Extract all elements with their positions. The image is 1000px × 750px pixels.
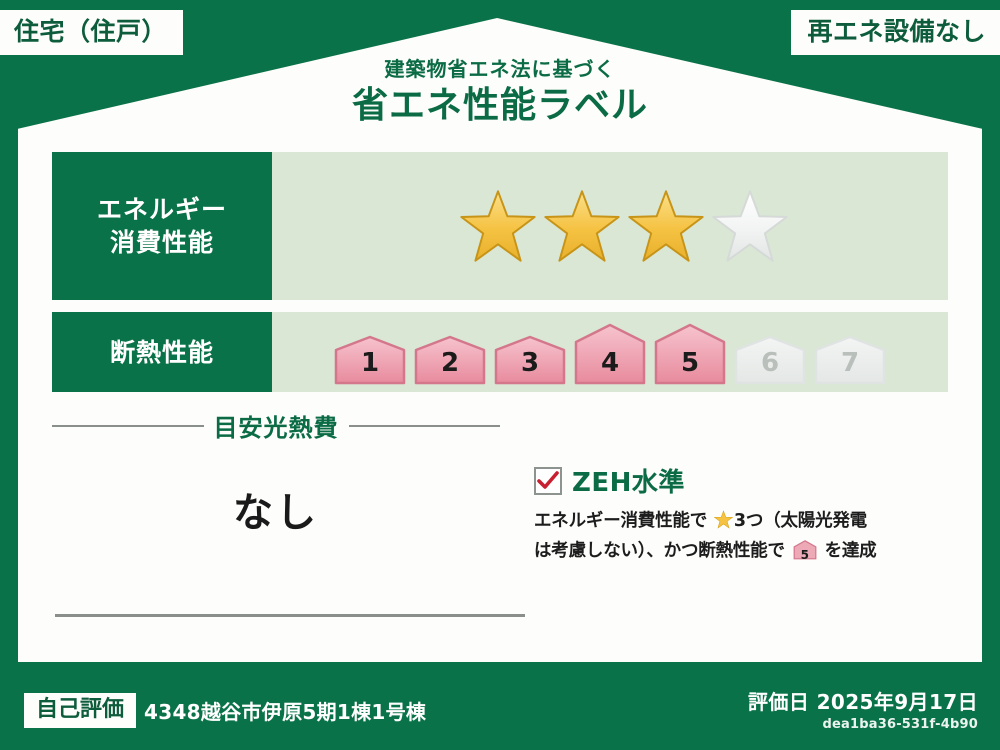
inline-house-grade-icon: 5 xyxy=(787,545,823,565)
self-evaluation-badge: 自己評価 xyxy=(24,693,136,728)
zeh-title: ZEH水準 xyxy=(572,462,685,499)
star-rating xyxy=(459,188,789,264)
insulation-grade-6: 6 xyxy=(732,335,808,385)
house-filled-icon xyxy=(654,323,726,385)
energy-performance-row: エネルギー 消費性能 xyxy=(52,152,948,300)
house-empty-icon xyxy=(814,335,886,385)
building-name: 4348越谷市伊原5期1棟1号棟 xyxy=(144,696,426,725)
zeh-desc-part-1: エネルギー消費性能で xyxy=(534,511,707,531)
insulation-grade-7: 7 xyxy=(812,335,888,385)
footer-right: 評価日 2025年9月17日 dea1ba36-531f-4b90 xyxy=(748,686,978,732)
inline-star-icon xyxy=(708,514,733,534)
utility-cost-title: 目安光熱費 xyxy=(214,408,339,443)
divider-left xyxy=(52,425,204,427)
utility-cost-bottom-divider xyxy=(55,614,525,617)
house-empty-icon xyxy=(734,335,806,385)
insulation-label-text: 断熱性能 xyxy=(110,336,214,369)
star-empty-icon xyxy=(711,188,789,264)
zeh-desc-part-2: 3つ（太陽光発電 xyxy=(734,511,867,531)
insulation-grade-scale: 1234567 xyxy=(332,312,888,392)
zeh-description: エネルギー消費性能で 3つ（太陽光発電 は考慮しない）、かつ断熱性能で 5を達成 xyxy=(534,508,954,569)
energy-performance-label: 住宅（住戸） 再エネ設備なし 建築物省エネ法に基づく 省エネ性能ラベル エネルギ… xyxy=(0,0,1000,750)
insulation-grade-1: 1 xyxy=(332,335,408,385)
badge-building-type: 住宅（住戸） xyxy=(0,10,183,55)
badge-renewable-equipment: 再エネ設備なし xyxy=(791,10,1000,55)
star-filled-icon xyxy=(459,188,537,264)
utility-cost-header: 目安光熱費 xyxy=(52,408,500,443)
inline-house-grade-number: 5 xyxy=(787,546,823,565)
house-filled-icon xyxy=(494,335,566,385)
energy-label-line-2: 消費性能 xyxy=(110,226,214,259)
energy-label-line-1: エネルギー xyxy=(97,193,227,226)
footer-left: 自己評価 4348越谷市伊原5期1棟1号棟 xyxy=(24,693,426,728)
insulation-performance-label: 断熱性能 xyxy=(52,312,272,392)
zeh-standard-block: ZEH水準 エネルギー消費性能で 3つ（太陽光発電 は考慮しない）、かつ断熱性能… xyxy=(534,462,954,569)
evaluation-date: 評価日 2025年9月17日 xyxy=(748,686,978,715)
insulation-grade-5: 5 xyxy=(652,323,728,385)
insulation-performance-value: 1234567 xyxy=(272,312,948,392)
divider-right xyxy=(349,425,501,427)
energy-performance-label: エネルギー 消費性能 xyxy=(52,152,272,300)
zeh-desc-part-4: を達成 xyxy=(825,541,877,561)
star-filled-icon xyxy=(543,188,621,264)
house-filled-icon xyxy=(574,323,646,385)
insulation-grade-4: 4 xyxy=(572,323,648,385)
star-filled-icon xyxy=(627,188,705,264)
evaluation-hash: dea1ba36-531f-4b90 xyxy=(748,717,978,732)
utility-cost-value: なし xyxy=(52,480,500,538)
zeh-desc-part-3: は考慮しない）、かつ断熱性能で xyxy=(534,541,785,561)
house-filled-icon xyxy=(334,335,406,385)
checkbox-checked-icon xyxy=(534,467,562,495)
insulation-grade-3: 3 xyxy=(492,335,568,385)
house-filled-icon xyxy=(414,335,486,385)
energy-performance-value xyxy=(272,152,948,300)
insulation-performance-row: 断熱性能 1234567 xyxy=(52,312,948,392)
zeh-heading: ZEH水準 xyxy=(534,462,954,499)
insulation-grade-2: 2 xyxy=(412,335,488,385)
